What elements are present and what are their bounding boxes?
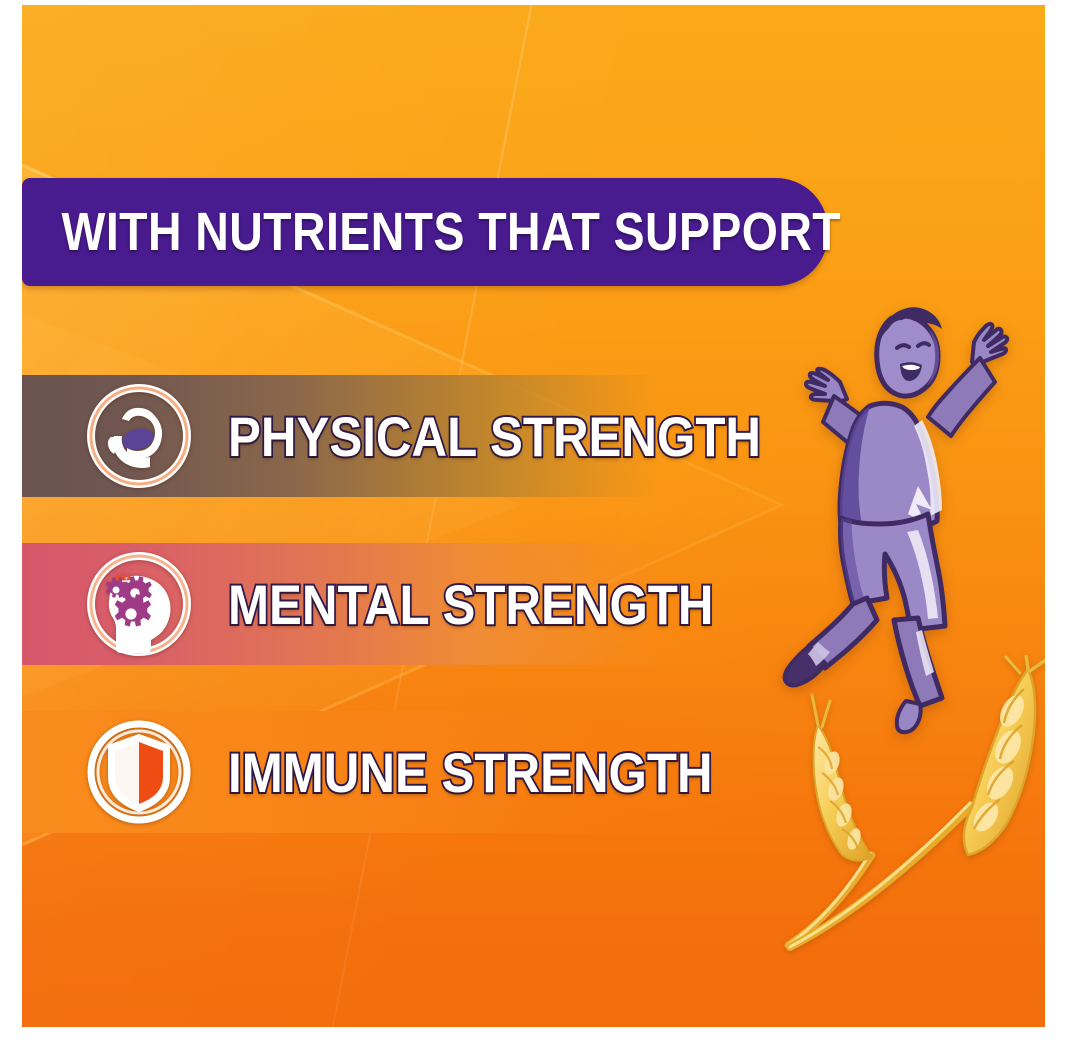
feature-row-mental-strength[interactable]: MENTAL STRENGTH [22, 543, 782, 665]
feature-label-mental-strength: MENTAL STRENGTH [228, 572, 713, 637]
banner-title: WITH NUTRIENTS THAT SUPPORT [22, 201, 841, 263]
header-banner: WITH NUTRIENTS THAT SUPPORT [22, 178, 828, 286]
feature-row-immune-strength[interactable]: IMMUNE STRENGTH [22, 711, 782, 833]
flexed-bicep-icon [84, 381, 194, 491]
feature-label-physical-strength: PHYSICAL STRENGTH [228, 404, 761, 469]
feature-label-immune-strength: IMMUNE STRENGTH [228, 740, 713, 805]
poster-canvas: WITH NUTRIENTS THAT SUPPORT PHYSICAL STR… [22, 5, 1045, 1027]
shield-icon [84, 717, 194, 827]
feature-row-physical-strength[interactable]: PHYSICAL STRENGTH [22, 375, 782, 497]
wheat-stalks-illustration [772, 655, 1045, 965]
head-with-gears-icon [84, 549, 194, 659]
